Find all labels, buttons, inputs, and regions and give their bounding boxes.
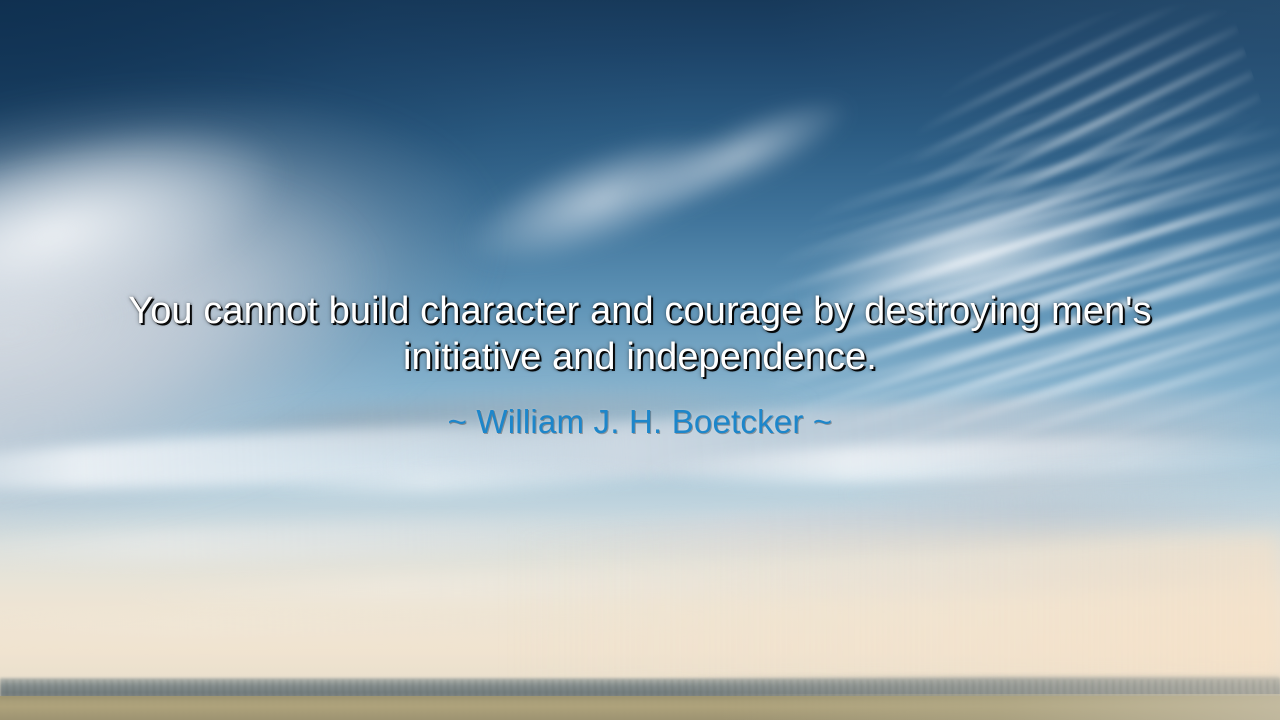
quote-text: You cannot build character and courage b… [60,288,1220,380]
foreground-plain-right [720,694,1280,720]
quote-author: ~ William J. H. Boetcker ~ [60,402,1220,442]
quote-overlay: You cannot build character and courage b… [0,288,1280,442]
horizon-warm-glow [500,534,1280,684]
quote-wallpaper-screen: You cannot build character and courage b… [0,0,1280,720]
